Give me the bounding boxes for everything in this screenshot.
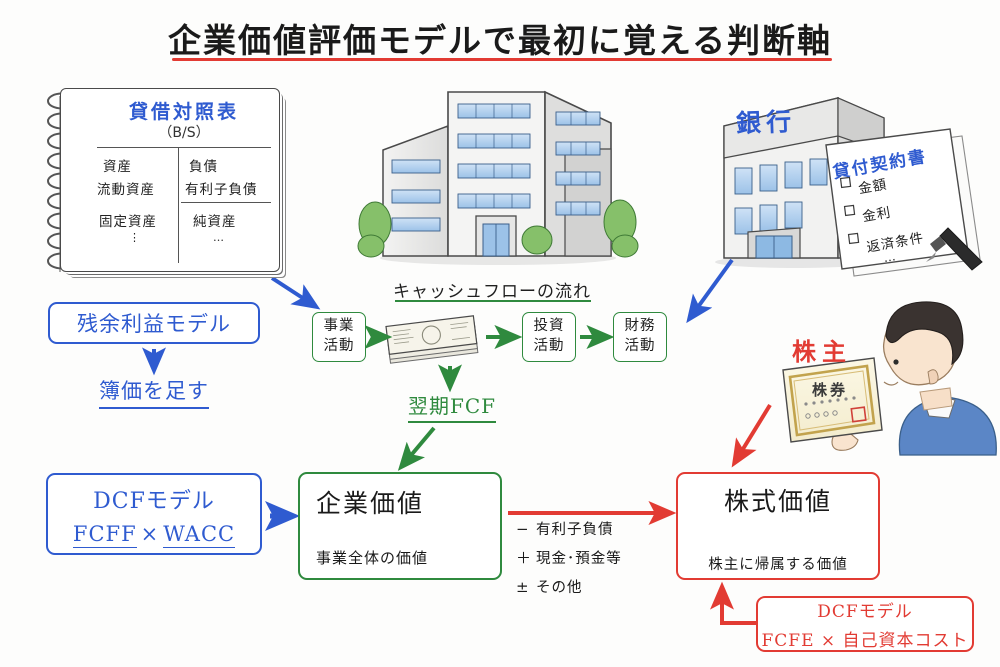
dcf-firm-formula: FCFF×WACC	[73, 522, 235, 546]
cashflow-step-business-line2: 活動	[324, 337, 355, 357]
enterprise-value-box[interactable]: 企業価値 事業全体の価値	[298, 472, 502, 580]
bridge-adjustments: − 有利子負債 ＋ 現金･預金等 ± その他	[516, 518, 626, 605]
bank-sign-label: 銀行	[735, 102, 796, 140]
dcf-firm-formula-times: ×	[137, 522, 164, 546]
balance-sheet-subtitle: （B/S）	[91, 122, 277, 142]
adjustment-row: ± その他	[516, 576, 626, 597]
residual-income-model-box[interactable]: 残余利益モデル	[48, 302, 260, 344]
dcf-equity-formula: FCFE × 自己資本コスト	[761, 626, 968, 651]
adjustment-label-1: 現金･預金等	[536, 547, 622, 568]
residual-income-model-label: 残余利益モデル	[77, 308, 231, 338]
loan-contract-item-3: ⋯	[883, 252, 898, 268]
cashflow-step-investing-line1: 投資	[534, 317, 565, 337]
dcf-firm-formula-right: WACC	[163, 522, 235, 548]
notebook-page: 貸借対照表 （B/S） 資産 流動資産 固定資産 ⋮ 負債 有利子負債 純資産 …	[60, 88, 280, 272]
adjustment-label-2: その他	[536, 576, 583, 597]
equity-value-box[interactable]: 株式価値 株主に帰属する価値	[676, 472, 880, 580]
cashflow-heading-underline	[395, 300, 591, 302]
banknote-stack-icon	[386, 316, 478, 363]
cashflow-step-investing-line2: 活動	[534, 337, 565, 357]
arrow-dcfe-to-equity	[722, 588, 756, 623]
cashflow-step-investing[interactable]: 投資 活動	[522, 312, 576, 362]
cashflow-step-financing-line1: 財務	[625, 317, 656, 337]
bs-right-2: 純資産	[193, 210, 237, 230]
company-building-icon	[358, 92, 638, 265]
equity-value-subtitle: 株主に帰属する価値	[708, 553, 848, 574]
arrow-fcf-to-enterprise-value	[402, 428, 434, 466]
adjustment-label-0: 有利子負債	[536, 518, 614, 539]
adjustment-sign-1: ＋	[516, 547, 536, 568]
book-value-note: 簿価を足す	[48, 375, 260, 409]
cashflow-step-business[interactable]: 事業 活動	[312, 312, 366, 362]
bs-divider-mid	[178, 147, 179, 263]
next-period-fcf-label: 翌期FCF	[372, 390, 532, 423]
bs-divider-top	[97, 147, 271, 148]
balance-sheet-title: 貸借対照表	[91, 97, 277, 124]
adjustment-sign-2: ±	[516, 578, 536, 596]
bs-divider-right	[181, 202, 271, 203]
cashflow-heading: キャッシュフローの流れ	[372, 277, 612, 302]
dcf-equity-title: DCFモデル	[817, 597, 912, 622]
dcf-firm-formula-left: FCFF	[73, 522, 137, 548]
bs-right-3: …	[213, 231, 225, 244]
equity-people-spacer	[723, 520, 833, 550]
next-period-fcf-text: 翌期FCF	[408, 390, 496, 423]
bs-left-3: ⋮	[129, 231, 141, 244]
dcf-equity-model-box[interactable]: DCFモデル FCFE × 自己資本コスト	[756, 596, 974, 652]
dcf-firm-model-box[interactable]: DCFモデル FCFF×WACC	[46, 473, 262, 555]
bs-left-0: 資産	[103, 155, 132, 175]
equity-value-title: 株式価値	[724, 482, 832, 518]
dcf-firm-title: DCFモデル	[93, 483, 215, 515]
adjustment-row: − 有利子負債	[516, 518, 626, 539]
bs-left-1: 流動資産	[97, 178, 155, 198]
cashflow-step-financing-line2: 活動	[625, 337, 656, 357]
adjustment-sign-0: −	[516, 520, 536, 538]
bs-right-1: 有利子負債	[185, 178, 258, 198]
title-underline	[172, 58, 832, 61]
balance-sheet-notebook: 貸借対照表 （B/S） 資産 流動資産 固定資産 ⋮ 負債 有利子負債 純資産 …	[46, 88, 286, 278]
arrow-shareholder-to-equity	[735, 405, 770, 462]
stock-certificate-icon	[783, 358, 882, 442]
enterprise-value-title: 企業価値	[316, 484, 424, 520]
stock-certificate-label: 株券	[812, 379, 848, 400]
book-value-note-label: 簿価を足す	[99, 375, 209, 409]
arrow-bank-to-finance	[690, 260, 732, 318]
cashflow-step-financing[interactable]: 財務 活動	[613, 312, 667, 362]
cashflow-step-business-line1: 事業	[324, 317, 355, 337]
enterprise-value-subtitle: 事業全体の価値	[316, 547, 428, 568]
bs-right-0: 負債	[189, 155, 218, 175]
page-title: 企業価値評価モデルで最初に覚える判断軸	[0, 14, 1000, 62]
adjustment-row: ＋ 現金･預金等	[516, 547, 626, 568]
bs-left-2: 固定資産	[99, 210, 157, 230]
shareholder-label: 株主	[792, 332, 852, 367]
arrow-bs-to-cashflow	[272, 278, 315, 306]
